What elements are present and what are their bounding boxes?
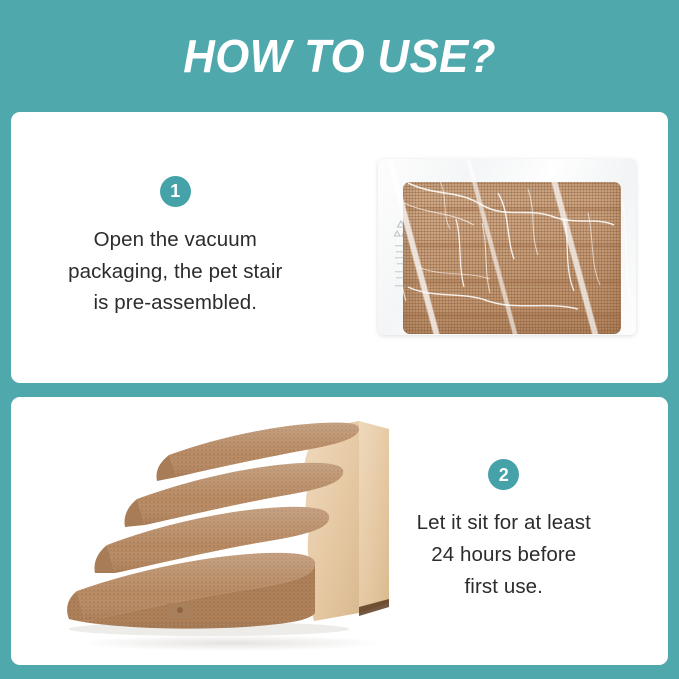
step-2-line-1: Let it sit for at least: [417, 507, 591, 539]
brand-tag: [167, 603, 193, 619]
step-card-1: 1 Open the vacuum packaging, the pet sta…: [11, 112, 668, 383]
vacuum-packaging-photo: [370, 145, 638, 350]
compressed-foam-stair: [403, 182, 621, 334]
step-2-text-panel: 2 Let it sit for at least 24 hours befor…: [340, 397, 669, 665]
step-1-description: Open the vacuum packaging, the pet stair…: [68, 224, 282, 319]
step-1: 1 Open the vacuum packaging, the pet sta…: [11, 176, 340, 319]
how-to-use-page: HOW TO USE? 1 Open the vacuum packaging,…: [0, 0, 679, 679]
step-1-text-panel: 1 Open the vacuum packaging, the pet sta…: [11, 112, 340, 383]
step-1-media-panel: [340, 112, 669, 383]
step-2-description: Let it sit for at least 24 hours before …: [417, 507, 591, 602]
recycle-icon: [392, 215, 410, 295]
step-1-line-1: Open the vacuum: [68, 224, 282, 256]
step-1-number-badge: 1: [160, 176, 191, 207]
step-2-number-badge: 2: [488, 459, 519, 490]
step-1-line-3: is pre-assembled.: [68, 287, 282, 319]
page-header: HOW TO USE?: [11, 0, 668, 112]
step-2-line-3: first use.: [417, 571, 591, 603]
step-2: 2 Let it sit for at least 24 hours befor…: [340, 459, 669, 602]
step-card-2: 24 2 Let it sit for at least 24 hours be…: [11, 397, 668, 665]
step-2-line-2: 24 hours before: [417, 539, 591, 571]
step-1-line-2: packaging, the pet stair: [68, 256, 282, 288]
page-title: HOW TO USE?: [183, 33, 496, 79]
plastic-bag: [378, 159, 636, 335]
step-2-media-panel: 24: [11, 397, 340, 665]
pet-stairs-photo: 24: [11, 397, 340, 665]
